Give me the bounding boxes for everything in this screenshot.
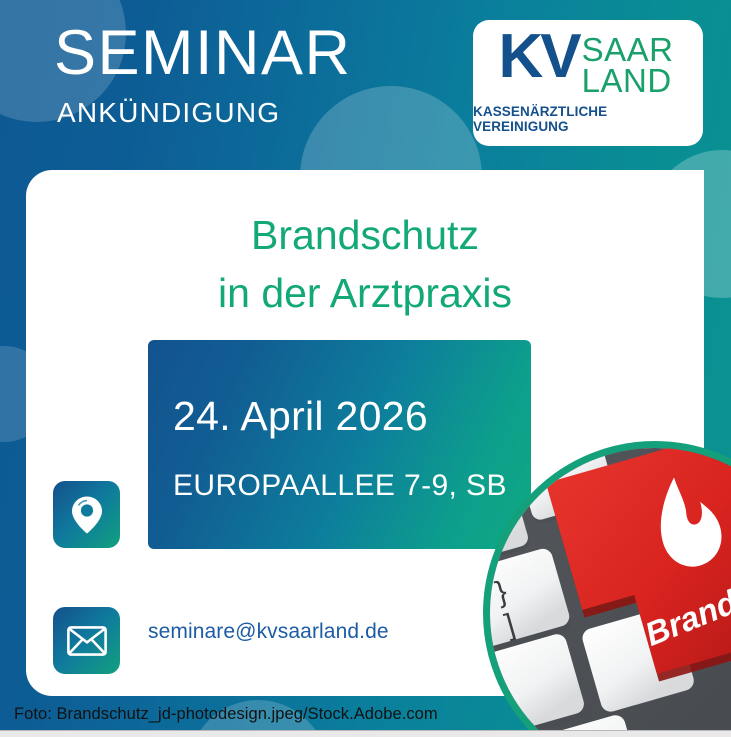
header: SEMINAR ANKÜNDIGUNG [54,22,352,127]
keyboard-photo-illustration: } ] \ [490,448,731,737]
envelope-icon [67,626,107,656]
email-address[interactable]: seminare@kvsaarland.de [148,620,389,644]
seminar-announcement-poster: SEMINAR ANKÜNDIGUNG KV SAAR LAND KASSENÄ… [0,0,731,737]
kv-saarland-logo: KV SAAR LAND KASSENÄRZTLICHE VEREINIGUNG [473,20,703,146]
page-title: SEMINAR [54,22,352,85]
event-venue: EUROPAALLEE 7-9, SB [173,471,531,501]
event-details-panel: 24. April 2026 EUROPAALLEE 7-9, SB [148,340,531,549]
photo-credit-caption: Foto: Brandschutz_jd-photodesign.jpeg/St… [14,705,438,724]
seminar-subject: Brandschutz in der Arztpraxis [26,206,704,322]
seminar-photo: } ] \ [483,441,731,737]
logo-kv-mark: KV [498,32,578,83]
logo-word-line-2: LAND [582,66,674,97]
email-icon-tile [53,607,120,674]
photo-inner: } ] \ [490,448,731,737]
page-subtitle: ANKÜNDIGUNG [57,99,352,127]
logo-saarland-word: SAAR LAND [582,32,674,96]
bottom-strip [0,730,731,737]
event-date: 24. April 2026 [173,396,531,437]
logo-tagline: KASSENÄRZTLICHE VEREINIGUNG [473,104,703,134]
map-pin-icon [70,495,104,535]
logo-wordmark: KV SAAR LAND [498,32,673,96]
location-icon-tile [53,481,120,548]
subject-line-2: in der Arztpraxis [26,264,704,322]
subject-line-1: Brandschutz [26,206,704,264]
